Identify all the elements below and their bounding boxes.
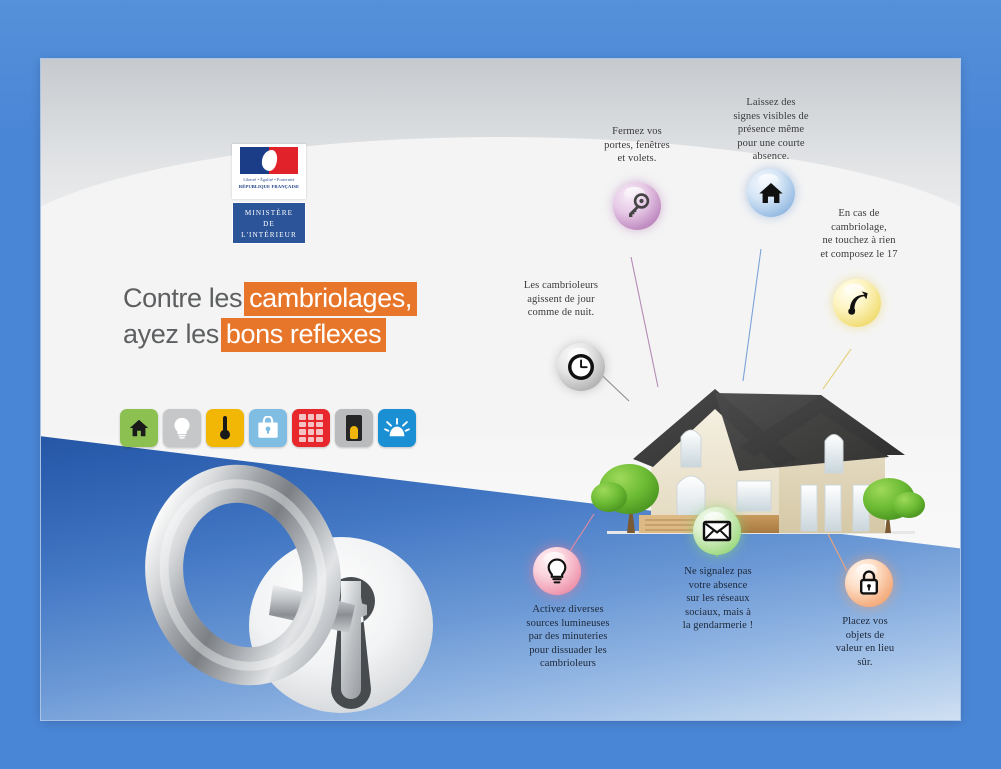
tile-lightbulb[interactable] xyxy=(163,409,201,447)
slide-canvas: Liberté • Égalité • Fraternité RÉPUBLIQU… xyxy=(0,0,1001,769)
tile-safe-padlock[interactable] xyxy=(249,409,287,447)
tile-thermometer[interactable] xyxy=(206,409,244,447)
french-flag-icon xyxy=(240,147,298,174)
callout-lightbulb-text: Activez diversessources lumineusespar de… xyxy=(480,603,656,671)
ministry-line-1: MINISTÈRE xyxy=(233,208,305,219)
tile-keypad[interactable] xyxy=(292,409,330,447)
presentation-slide: Liberté • Égalité • Fraternité RÉPUBLIQU… xyxy=(41,59,960,720)
thermometer-icon xyxy=(218,415,232,441)
callout-key-text: Fermez vosportes, fenêtreset volets. xyxy=(562,125,712,166)
alarm-siren-icon xyxy=(384,417,410,439)
page-title: Contre lescambriolages, ayez lesbons ref… xyxy=(123,280,417,352)
headline-line-1: Contre lescambriolages, xyxy=(123,280,417,316)
ministry-name-block: MINISTÈRE DE L'INTÉRIEUR xyxy=(232,202,306,244)
lightbulb-icon[interactable] xyxy=(533,547,581,595)
phone-icon[interactable] xyxy=(833,279,881,327)
callout-home-text: Laissez dessignes visibles deprésence mê… xyxy=(696,96,846,164)
padlock-icon[interactable] xyxy=(845,559,893,607)
tile-house[interactable] xyxy=(120,409,158,447)
headline-line-2: ayez lesbons reflexes xyxy=(123,316,417,352)
padlock-bag-icon xyxy=(256,416,280,440)
headline-highlight-1: cambriolages, xyxy=(244,282,417,316)
headline-highlight-2: bons reflexes xyxy=(221,318,386,352)
tile-intercom[interactable] xyxy=(335,409,373,447)
tile-alarm[interactable] xyxy=(378,409,416,447)
logo-devise: Liberté • Égalité • Fraternité xyxy=(243,177,294,182)
intercom-person-glyph xyxy=(350,426,358,439)
callout-padlock-text: Placez vosobjets devaleur en lieusûr. xyxy=(790,615,940,669)
house-icon xyxy=(128,417,150,439)
callout-clock-text: Les cambrioleursagissent de jourcomme de… xyxy=(481,279,641,320)
lightbulb-icon xyxy=(171,416,193,440)
envelope-icon[interactable] xyxy=(693,507,741,555)
keypad-icon xyxy=(299,414,323,442)
house-illustration xyxy=(589,381,929,556)
key-icon[interactable] xyxy=(613,182,661,230)
security-icon-strip xyxy=(120,409,421,447)
ministry-logo: Liberté • Égalité • Fraternité RÉPUBLIQU… xyxy=(232,144,306,244)
intercom-icon xyxy=(346,415,362,441)
marianne-emblem: Liberté • Égalité • Fraternité RÉPUBLIQU… xyxy=(232,144,306,199)
headline-plain-2: ayez les xyxy=(123,319,219,349)
ministry-line-2: DE xyxy=(233,219,305,230)
callout-phone-text: En cas decambriolage,ne touchez à rienet… xyxy=(779,207,939,261)
logo-republic: RÉPUBLIQUE FRANÇAISE xyxy=(239,184,299,189)
ministry-line-3: L'INTÉRIEUR xyxy=(233,230,305,241)
headline-plain-1: Contre les xyxy=(123,283,242,313)
callout-envelope-text: Ne signalez pasvotre absencesur les rése… xyxy=(643,565,793,633)
clock-icon[interactable] xyxy=(557,343,605,391)
